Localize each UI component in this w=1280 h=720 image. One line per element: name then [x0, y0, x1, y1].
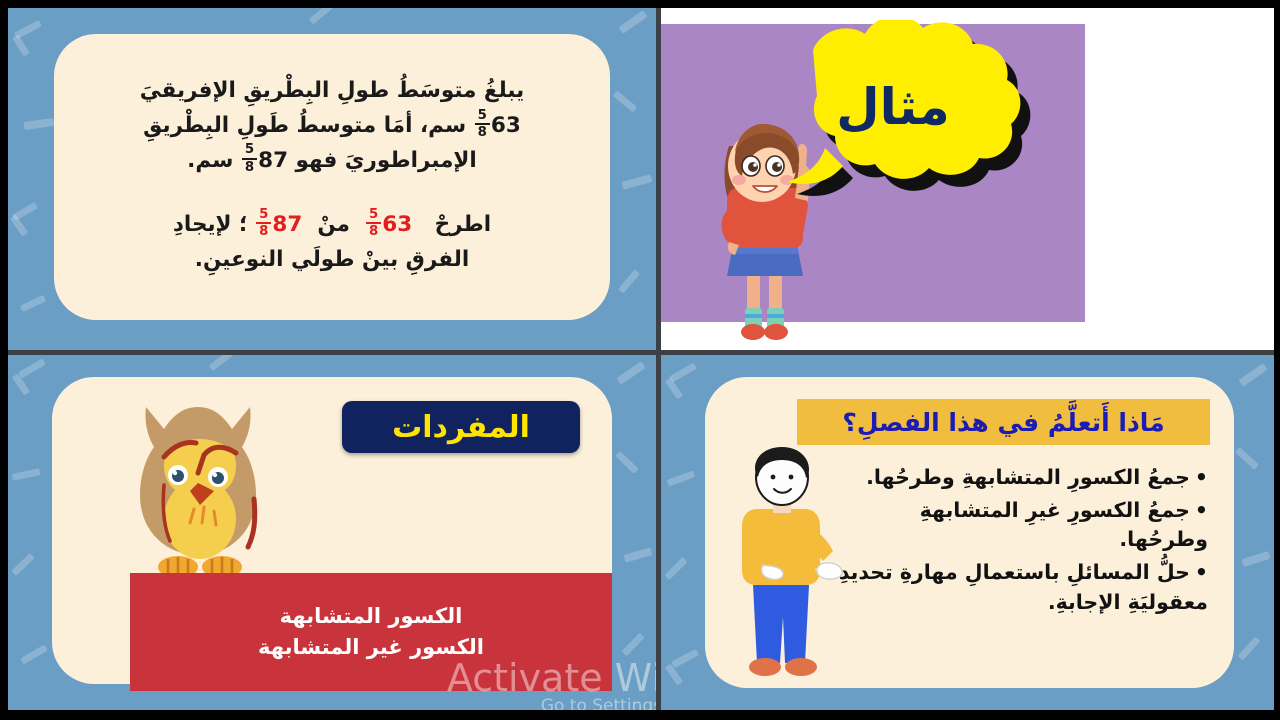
p1-seg-c: الإمبراطوريَ فهو [296, 148, 477, 173]
vocabulary-term: الكسور غير المتشابهة [258, 632, 484, 664]
p2-seg-b: منْ [317, 212, 350, 237]
p1-fraction-1: 58 [475, 109, 490, 140]
boy-pointing-illustration [723, 435, 843, 685]
slide-example[interactable]: مثال [661, 8, 1274, 350]
p2-fraction-1: 58 [366, 208, 381, 239]
vocabulary-badge-title: المفردات [392, 410, 530, 445]
objectives-banner: مَاذا أَتعلَّمُ في هذا الفصلِ؟ [797, 399, 1210, 445]
example-speech-bubble: مثال [721, 20, 1065, 238]
p2-number-2: 87 [272, 212, 302, 237]
objective-text: جمعُ الكسورِ غيرِ المتشابهةِ وطرحُها. [920, 498, 1208, 552]
p2-number-1: 63 [382, 212, 412, 237]
list-item: •جمعُ الكسورِ غيرِ المتشابهةِ وطرحُها. [825, 496, 1208, 555]
bullet-icon: • [1195, 465, 1208, 489]
slide-problem[interactable]: يبلغُ متوسَطُ طولِ البِطْريقِ الإفريقيَ … [8, 8, 656, 350]
vocabulary-terms-box: الكسور المتشابهة الكسور غير المتشابهة [130, 573, 612, 691]
vocabulary-term: الكسور المتشابهة [280, 601, 463, 633]
p1-seg-b: سم، أمَا متوسطُ طَولِ البِطْريقِ [143, 113, 466, 138]
p1-number-2: 87 [258, 148, 288, 173]
list-item: •جمعُ الكسورِ المتشابهةِ وطرحُها. [825, 463, 1208, 493]
p2-fraction-2: 58 [256, 208, 271, 239]
p1-seg-a: يبلغُ متوسَطُ طولِ البِطْريقِ الإفريقيَ [140, 78, 525, 103]
p1-number-1: 63 [491, 113, 521, 138]
slide-vocabulary[interactable]: المفردات [8, 355, 656, 710]
objectives-banner-title: مَاذا أَتعلَّمُ في هذا الفصلِ؟ [842, 408, 1164, 437]
example-bubble-label: مثال [721, 78, 1065, 136]
slide-grid: مثال يبلغُ متوسَطُ طولِ [8, 8, 1274, 710]
list-item: •حلُّ المسائلِ باستعمالِ مهارةِ تحديدِ م… [825, 558, 1208, 617]
objectives-list: •جمعُ الكسورِ المتشابهةِ وطرحُها. •جمعُ … [825, 463, 1208, 621]
p1-seg-d: سم. [187, 148, 233, 173]
p2-seg-a: اطرحْ [435, 212, 492, 237]
objective-text: جمعُ الكسورِ المتشابهةِ وطرحُها. [866, 465, 1190, 489]
problem-paragraph-2: اطرحْ 6358 منْ 8758 ؛ لإيجادِ الفرقِ بين… [80, 208, 584, 277]
slide-objectives[interactable]: مَاذا أَتعلَّمُ في هذا الفصلِ؟ •جمعُ الك… [661, 355, 1274, 710]
problem-text: يبلغُ متوسَطُ طولِ البِطْريقِ الإفريقيَ … [80, 74, 584, 277]
p2-seg-c: ؛ لإيجادِ [173, 212, 248, 237]
problem-card: يبلغُ متوسَطُ طولِ البِطْريقِ الإفريقيَ … [54, 34, 610, 320]
objective-text: حلُّ المسائلِ باستعمالِ مهارةِ تحديدِ مع… [839, 560, 1208, 614]
p1-fraction-2: 58 [242, 143, 257, 174]
vocabulary-card: المفردات [52, 377, 612, 684]
owl-mascot-icon [108, 391, 288, 591]
vocabulary-badge: المفردات [342, 401, 580, 453]
objectives-card: مَاذا أَتعلَّمُ في هذا الفصلِ؟ •جمعُ الك… [705, 377, 1234, 688]
p2-seg-d: الفرقِ بينْ طولَي النوعينِ. [195, 247, 469, 272]
bullet-icon: • [1195, 560, 1208, 584]
problem-paragraph-1: يبلغُ متوسَطُ طولِ البِطْريقِ الإفريقيَ … [80, 74, 584, 178]
slide-deck-frame: مثال يبلغُ متوسَطُ طولِ [0, 0, 1280, 720]
bullet-icon: • [1195, 498, 1208, 522]
